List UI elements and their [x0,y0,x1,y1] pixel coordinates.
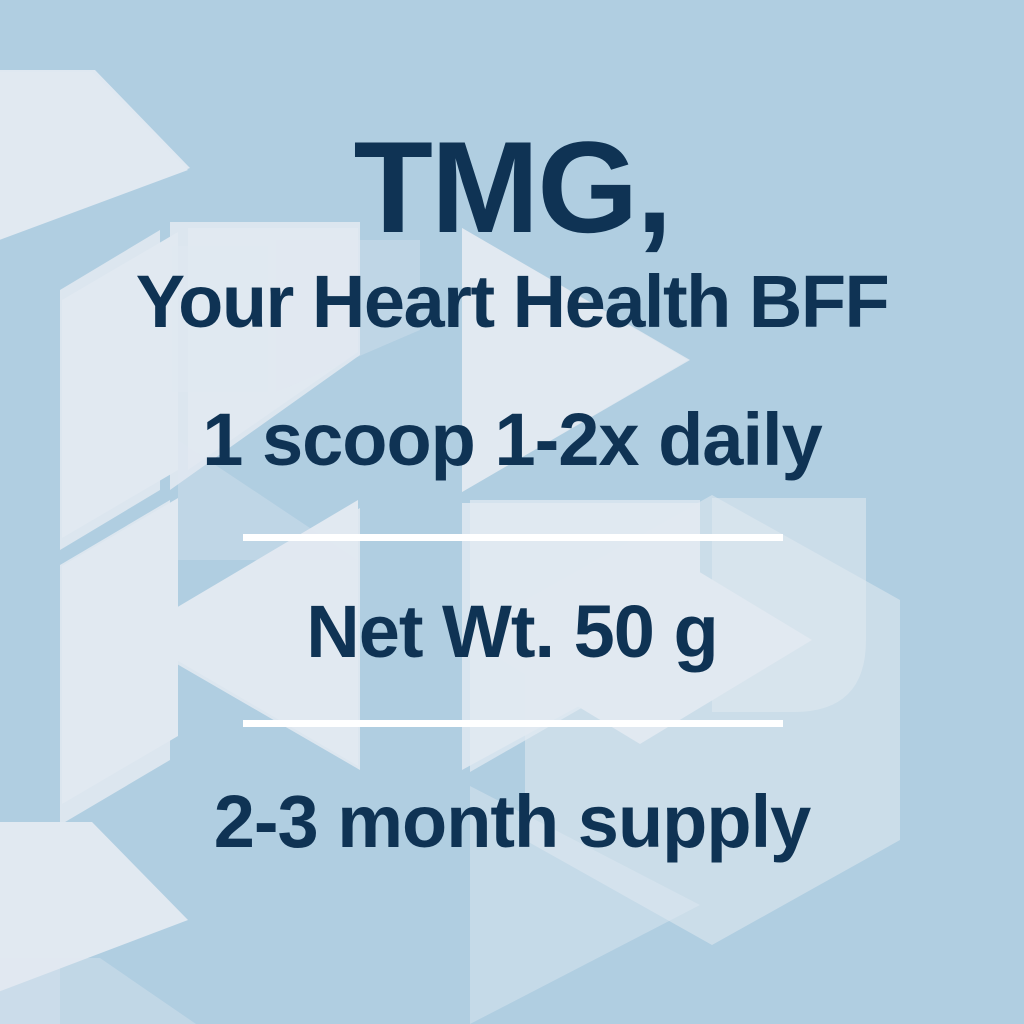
product-info-card: TMG, Your Heart Health BFF 1 scoop 1-2x … [0,0,1024,1024]
product-subtitle: Your Heart Health BFF [0,262,1024,342]
divider-top [243,534,783,541]
supply-duration-text: 2-3 month supply [0,782,1024,862]
net-weight-text: Net Wt. 50 g [0,592,1024,672]
product-title: TMG, [0,122,1024,252]
text-stack: TMG, Your Heart Health BFF 1 scoop 1-2x … [0,0,1024,1024]
divider-bottom [243,720,783,727]
dosage-text: 1 scoop 1-2x daily [0,400,1024,480]
